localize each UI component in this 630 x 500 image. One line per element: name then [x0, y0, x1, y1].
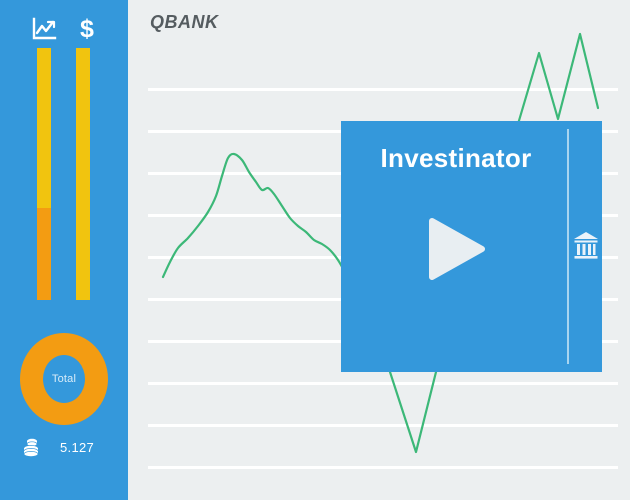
donut-chart: Total — [18, 333, 110, 425]
sidebar-icon-row: $ — [0, 14, 128, 48]
sidebar-bar-chart-right — [76, 48, 90, 300]
donut-center-label: Total — [18, 333, 110, 425]
coins-summary: 5.127 — [22, 437, 122, 459]
play-icon[interactable] — [426, 218, 486, 280]
bar-segment — [76, 48, 90, 300]
chart-line — [390, 372, 436, 452]
sidebar-bar-chart-left — [37, 48, 51, 300]
bank-icon[interactable] — [573, 231, 599, 261]
chart-line — [518, 34, 598, 124]
dollar-icon[interactable]: $ — [74, 14, 100, 40]
coins-value: 5.127 — [60, 440, 94, 455]
coins-icon — [22, 437, 42, 459]
chart-line — [163, 154, 346, 277]
overlay-divider — [567, 129, 569, 364]
video-overlay-panel[interactable]: Investinator — [341, 121, 602, 372]
chart-icon[interactable] — [31, 16, 57, 42]
sidebar: $ Total — [0, 0, 128, 500]
bar-segment — [37, 208, 51, 300]
app-root: QBANK $ — [0, 0, 630, 500]
bar-segment — [37, 48, 51, 208]
svg-text:$: $ — [80, 15, 94, 42]
overlay-title: Investinator — [341, 143, 571, 174]
